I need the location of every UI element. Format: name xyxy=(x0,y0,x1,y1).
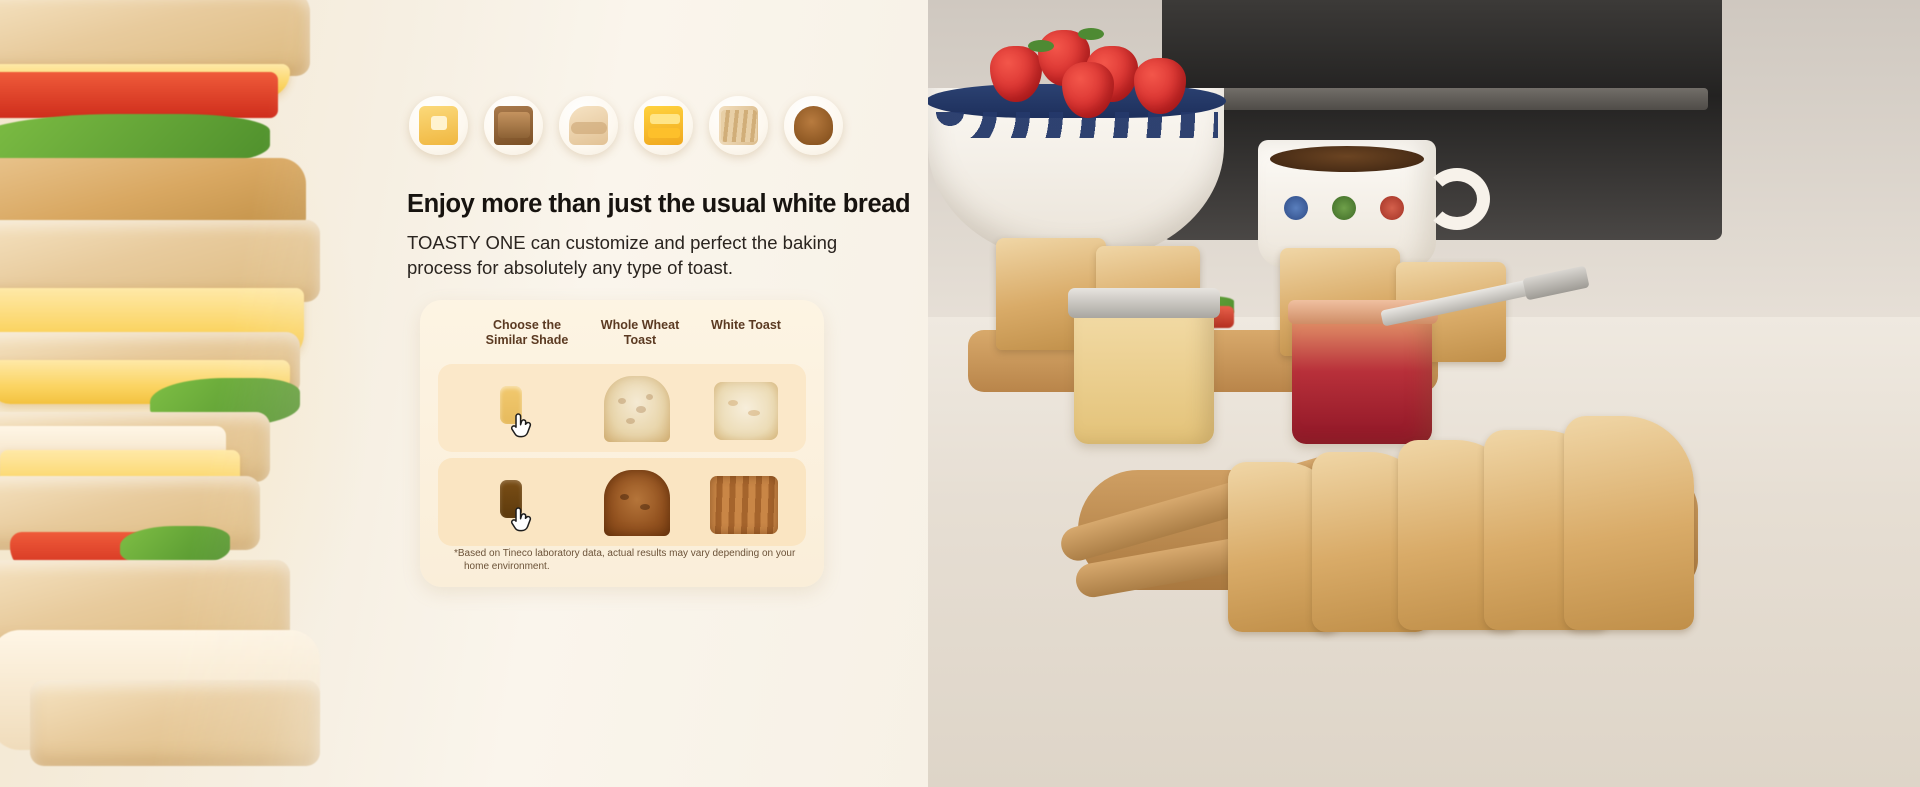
oven-handle xyxy=(1178,88,1708,110)
fruit-bowl-pattern xyxy=(934,112,1218,138)
card-column-headers: Choose the Similar Shade Whole Wheat Toa… xyxy=(438,318,806,358)
footnote-line-2: home environment. xyxy=(454,560,804,573)
page-title: Enjoy more than just the usual white bre… xyxy=(407,190,927,219)
stacked-sandwich-photo xyxy=(0,0,440,787)
hand-cursor-icon xyxy=(510,506,532,534)
french-toast-icon[interactable] xyxy=(634,96,693,155)
strawberry-leaf xyxy=(1028,40,1054,52)
right-photo-panel xyxy=(928,0,1920,787)
column-header-whole-wheat-toast: Whole Wheat Toast xyxy=(586,318,694,348)
baguette-icon[interactable] xyxy=(709,96,768,155)
bread-slice xyxy=(1564,416,1694,630)
coffee-mug-handle xyxy=(1424,168,1490,230)
mug-decoration xyxy=(1284,196,1308,220)
coffee-liquid xyxy=(1270,146,1424,172)
white-toast-light-image xyxy=(714,382,778,440)
white-toast-dark-image xyxy=(710,476,778,534)
butter-toast-icon[interactable] xyxy=(409,96,468,155)
honey-jar xyxy=(1074,302,1214,444)
column-header-choose-shade: Choose the Similar Shade xyxy=(472,318,582,348)
jam-jar xyxy=(1292,312,1432,444)
dark-roll-icon[interactable] xyxy=(784,96,843,155)
honey-jar-lid xyxy=(1068,288,1220,318)
table-row[interactable] xyxy=(438,364,806,452)
mug-decoration xyxy=(1380,196,1404,220)
whole-wheat-toast-light-image xyxy=(604,376,670,442)
page-subcopy: TOASTY ONE can customize and perfect the… xyxy=(407,230,877,280)
strawberry-leaf xyxy=(1078,28,1104,40)
table-row[interactable] xyxy=(438,458,806,546)
rye-bread-icon[interactable] xyxy=(484,96,543,155)
whole-wheat-toast-dark-image xyxy=(604,470,670,536)
promo-banner: Enjoy more than just the usual white bre… xyxy=(0,0,1920,787)
subcopy-line-2: process for absolutely any type of toast… xyxy=(407,257,733,278)
white-slice-icon[interactable] xyxy=(559,96,618,155)
subcopy-line-1: TOASTY ONE can customize and perfect the… xyxy=(407,232,837,253)
hand-cursor-icon xyxy=(510,412,532,440)
toast-shade-comparison-card: Choose the Similar Shade Whole Wheat Toa… xyxy=(420,300,824,587)
bread-type-icon-row xyxy=(409,96,869,155)
column-header-white-toast: White Toast xyxy=(694,318,798,333)
card-footnote: *Based on Tineco laboratory data, actual… xyxy=(454,547,804,573)
footnote-line-1: *Based on Tineco laboratory data, actual… xyxy=(454,548,795,559)
mug-decoration xyxy=(1332,196,1356,220)
promo-content: Enjoy more than just the usual white bre… xyxy=(404,0,934,787)
